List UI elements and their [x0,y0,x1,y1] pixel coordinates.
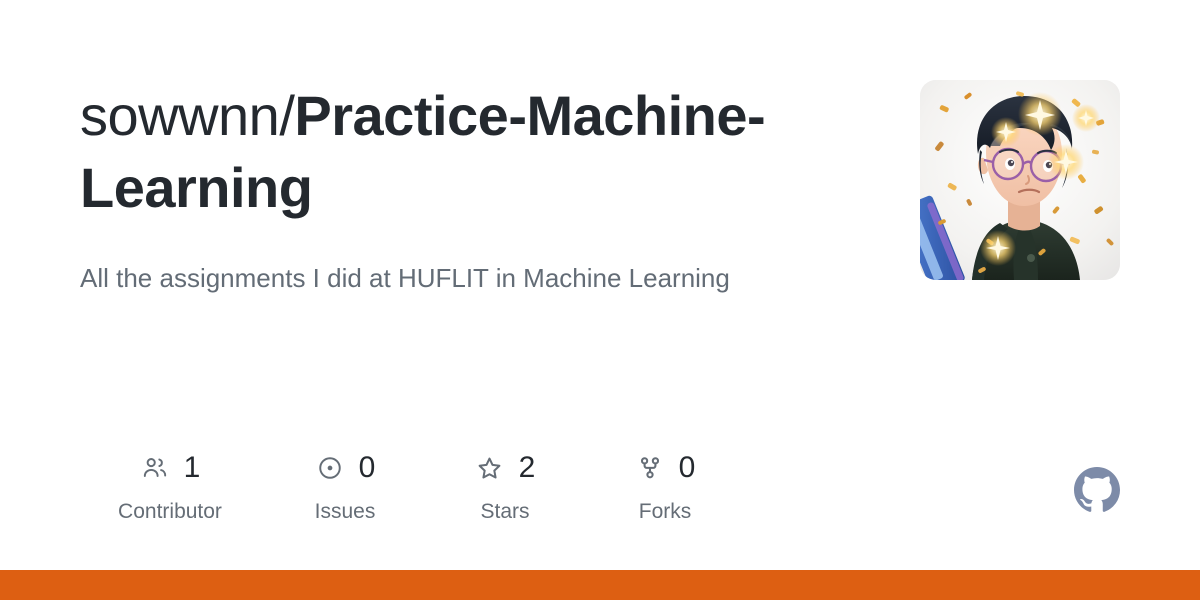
avatar-illustration [920,80,1120,280]
stat-forks-label: Forks [639,498,692,526]
stat-issues-top: 0 [315,450,376,486]
repository-stats: 1 Contributor 0 Issues [80,450,1120,526]
stat-forks-top: 0 [635,450,696,486]
issue-opened-icon [315,453,345,483]
avatar [920,80,1120,280]
page-title: sowwnn/Practice-Machine-Learning [80,80,800,224]
accent-bar [0,570,1200,600]
stat-issues-label: Issues [315,498,376,526]
stat-issues-value: 0 [359,450,376,486]
stat-forks[interactable]: 0 Forks [590,450,740,526]
repository-owner[interactable]: sowwnn [80,84,279,147]
repository-heading: sowwnn/Practice-Machine-Learning All the… [80,80,800,302]
stat-stars-top: 2 [475,450,536,486]
stat-contributors-top: 1 [140,450,201,486]
stat-forks-value: 0 [679,450,696,486]
card-header: sowwnn/Practice-Machine-Learning All the… [80,80,1120,302]
stat-contributors-label: Contributor [118,498,222,526]
stat-stars-label: Stars [480,498,529,526]
repository-social-card: sowwnn/Practice-Machine-Learning All the… [0,0,1200,570]
stat-issues[interactable]: 0 Issues [270,450,420,526]
repository-description: All the assignments I did at HUFLIT in M… [80,224,790,302]
github-logo [1074,467,1120,513]
repo-forked-icon [635,453,665,483]
stat-contributors-value: 1 [184,450,201,486]
star-icon [475,453,505,483]
title-separator: / [279,84,294,147]
stat-stars-value: 2 [519,450,536,486]
people-icon [140,453,170,483]
stat-stars[interactable]: 2 Stars [430,450,580,526]
stat-contributors[interactable]: 1 Contributor [80,450,260,526]
